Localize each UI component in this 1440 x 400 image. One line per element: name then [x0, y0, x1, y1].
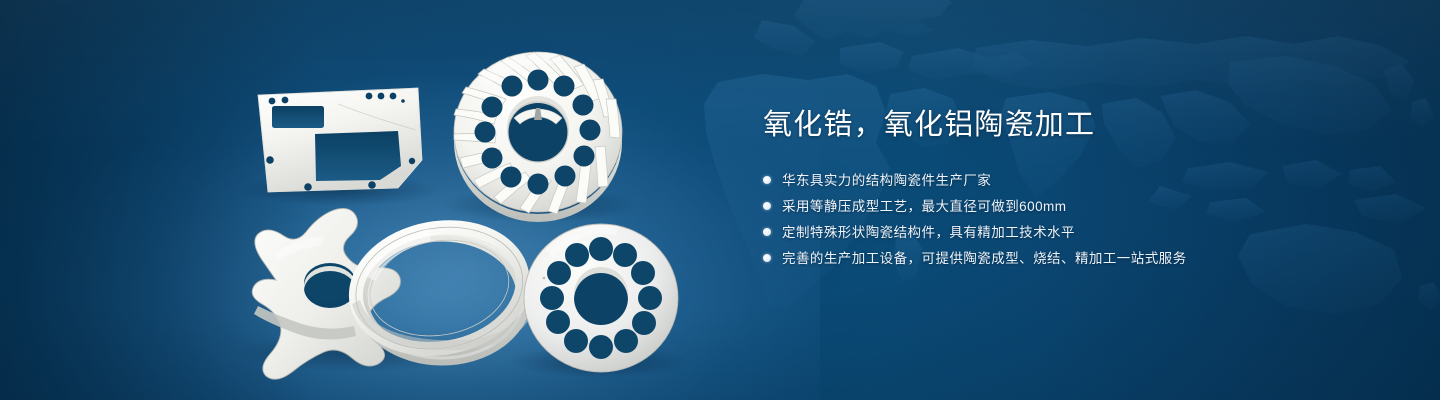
ceramic-parts-artwork: [0, 0, 760, 400]
product-banner: 氧化锆，氧化铝陶瓷加工 华东具实力的结构陶瓷件生产厂家 采用等静压成型工艺，最大…: [0, 0, 1440, 400]
ceramic-perforated-disc: [524, 224, 678, 372]
list-item: 完善的生产加工设备，可提供陶瓷成型、烧结、精加工一站式服务: [763, 247, 1383, 270]
ceramic-plate-with-cutouts: [258, 88, 422, 192]
list-item: 采用等静压成型工艺，最大直径可做到600mm: [763, 195, 1383, 218]
bullet-dot-icon: [763, 202, 771, 210]
banner-copy: 氧化锆，氧化铝陶瓷加工 华东具实力的结构陶瓷件生产厂家 采用等静压成型工艺，最大…: [763, 108, 1383, 273]
bullet-dot-icon: [763, 176, 771, 184]
list-item-label: 华东具实力的结构陶瓷件生产厂家: [782, 174, 991, 188]
bullet-dot-icon: [763, 228, 771, 236]
list-item-label: 采用等静压成型工艺，最大直径可做到600mm: [782, 200, 1066, 214]
list-item-label: 定制特殊形状陶瓷结构件，具有精加工技术水平: [782, 226, 1075, 240]
ceramic-impeller-rotor: [454, 52, 622, 222]
list-item-label: 完善的生产加工设备，可提供陶瓷成型、烧结、精加工一站式服务: [782, 252, 1187, 266]
banner-feature-list: 华东具实力的结构陶瓷件生产厂家 采用等静压成型工艺，最大直径可做到600mm 定…: [763, 169, 1383, 270]
bullet-dot-icon: [763, 254, 771, 262]
banner-headline: 氧化锆，氧化铝陶瓷加工: [763, 108, 1383, 143]
list-item: 定制特殊形状陶瓷结构件，具有精加工技术水平: [763, 221, 1383, 244]
list-item: 华东具实力的结构陶瓷件生产厂家: [763, 169, 1383, 192]
